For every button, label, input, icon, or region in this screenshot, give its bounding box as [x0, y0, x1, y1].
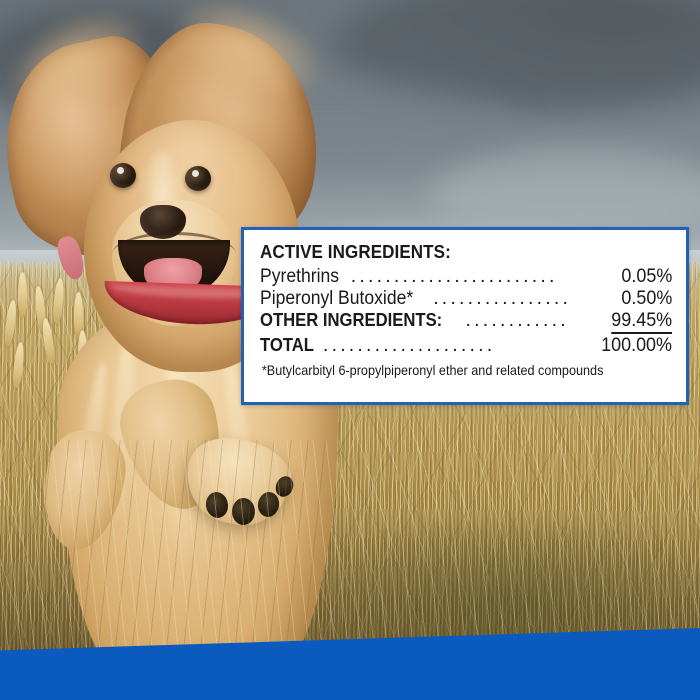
ingredient-row-piperonyl-butoxide: Piperonyl Butoxide* ................ 0.5… [260, 287, 672, 309]
ingredient-row-pyrethrins: Pyrethrins ........................ 0.05… [260, 265, 672, 287]
ingredient-percent: 99.45% [611, 309, 672, 334]
ingredient-name: OTHER INGREDIENTS: [260, 310, 442, 331]
ingredients-card-body: ACTIVE INGREDIENTS: Pyrethrins .........… [244, 230, 686, 402]
dot-leader: ............ [465, 309, 603, 331]
product-hero-image: ACTIVE INGREDIENTS: Pyrethrins .........… [0, 0, 700, 700]
ingredient-name: Piperonyl Butoxide* [260, 287, 413, 309]
ingredients-table: Pyrethrins ........................ 0.05… [260, 265, 672, 356]
eye-glint [192, 170, 199, 177]
ingredient-row-other-ingredients: OTHER INGREDIENTS: ............ 99.45% [260, 309, 672, 334]
paw-pad [232, 498, 255, 525]
dot-leader: ................ [433, 287, 615, 309]
ingredients-card: ACTIVE INGREDIENTS: Pyrethrins .........… [241, 227, 689, 405]
ingredient-name: TOTAL [260, 335, 314, 356]
ingredient-percent: 100.00% [601, 334, 672, 356]
dog-left-eye [110, 163, 136, 188]
ingredient-name: Pyrethrins [260, 265, 339, 287]
dot-leader: ........................ [351, 265, 615, 287]
dot-leader: .................... [323, 334, 593, 356]
ingredients-footnote: *Butylcarbityl 6-propylpiperonyl ether a… [260, 363, 643, 378]
ingredient-percent: 0.50% [621, 287, 672, 309]
eye-glint [117, 167, 124, 174]
ingredient-row-total: TOTAL .................... 100.00% [260, 334, 672, 356]
active-ingredients-heading: ACTIVE INGREDIENTS: [260, 241, 639, 263]
ingredient-percent: 0.05% [621, 265, 672, 287]
dog-right-eye [185, 166, 211, 191]
